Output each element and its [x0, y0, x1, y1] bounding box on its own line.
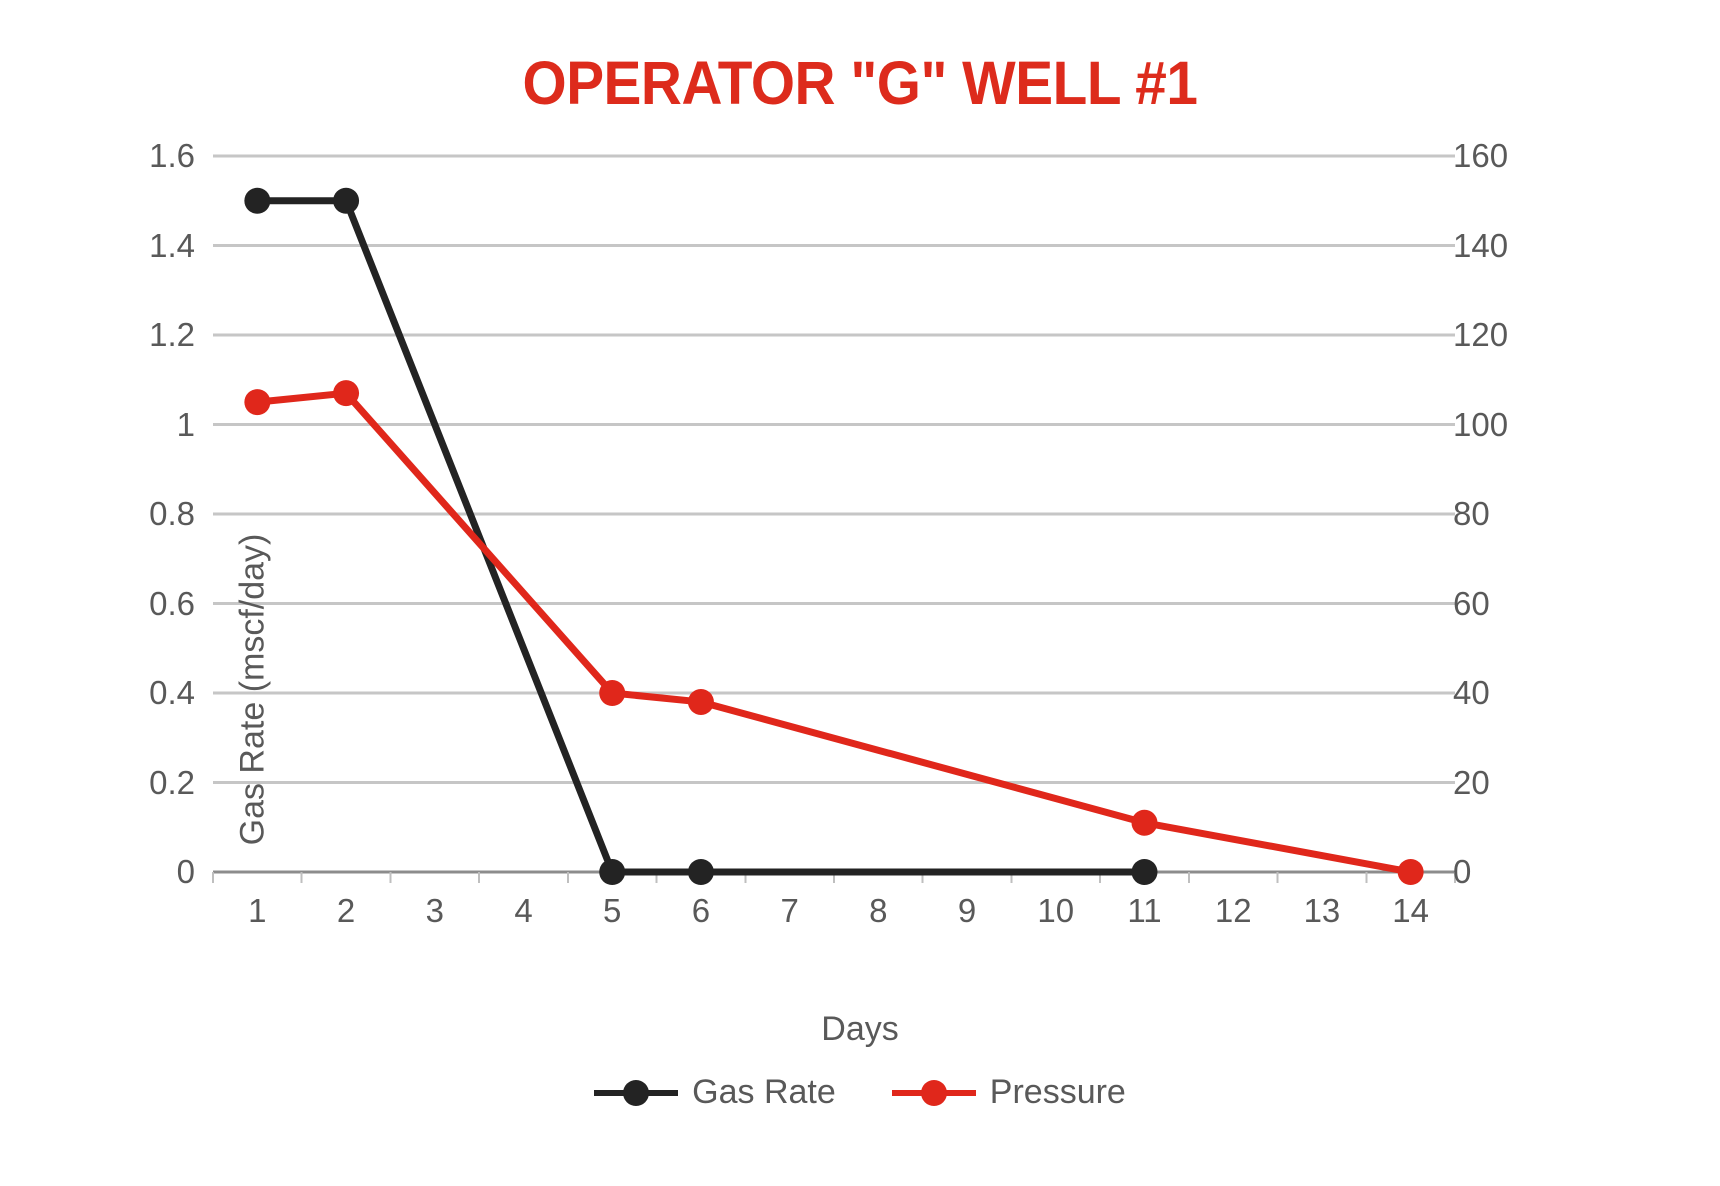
- x-axis-tick-label: 5: [603, 892, 621, 930]
- series-line-gas-rate: [257, 201, 1144, 872]
- y-axis-right-tick-label: 40: [1453, 674, 1573, 712]
- data-point-gas-rate: [333, 188, 359, 214]
- chart-legend: Gas RatePressure: [0, 1073, 1720, 1112]
- data-point-pressure: [1132, 810, 1158, 836]
- x-axis-tick-label: 4: [514, 892, 532, 930]
- y-axis-left-tick-label: 0.6: [95, 585, 195, 623]
- x-axis-tick-label: 14: [1392, 892, 1429, 930]
- y-axis-left-tick-label: 0.4: [95, 674, 195, 712]
- legend-item[interactable]: Pressure: [892, 1073, 1126, 1112]
- data-point-gas-rate: [688, 859, 714, 885]
- data-point-pressure: [333, 380, 359, 406]
- y-axis-left-tick-label: 0.8: [95, 495, 195, 533]
- data-point-pressure: [599, 680, 625, 706]
- x-axis-tick-label: 8: [869, 892, 887, 930]
- y-axis-right-tick-label: 120: [1453, 316, 1573, 354]
- data-point-gas-rate: [599, 859, 625, 885]
- x-axis-tick-label: 2: [337, 892, 355, 930]
- y-axis-left-tick-label: 1.6: [95, 137, 195, 175]
- y-axis-left-tick-label: 1.4: [95, 227, 195, 265]
- data-point-gas-rate: [244, 188, 270, 214]
- data-point-pressure: [688, 689, 714, 715]
- series-lines: [257, 201, 1410, 872]
- x-axis-tick-label: 13: [1304, 892, 1341, 930]
- y-axis-left-tick-label: 0.2: [95, 764, 195, 802]
- y-axis-right-tick-label: 140: [1453, 227, 1573, 265]
- y-axis-right-tick-label: 80: [1453, 495, 1573, 533]
- legend-marker-icon: [921, 1080, 947, 1106]
- y-axis-right-tick-label: 100: [1453, 406, 1573, 444]
- x-axis-title: Days: [0, 1010, 1720, 1049]
- x-axis-tick-label: 12: [1215, 892, 1252, 930]
- x-axis-tick-label: 6: [692, 892, 710, 930]
- legend-label: Pressure: [990, 1073, 1126, 1112]
- series-markers: [244, 188, 1423, 885]
- x-axis-tick-label: 10: [1037, 892, 1074, 930]
- plot-svg: [213, 156, 1455, 872]
- legend-swatch-icon: [892, 1080, 976, 1106]
- y-axis-right-tick-label: 0: [1453, 853, 1573, 891]
- x-axis-tick-label: 9: [958, 892, 976, 930]
- legend-item[interactable]: Gas Rate: [594, 1073, 836, 1112]
- x-axis-tick-label: 7: [780, 892, 798, 930]
- y-axis-right-tick-label: 20: [1453, 764, 1573, 802]
- legend-label: Gas Rate: [692, 1073, 836, 1112]
- chart-container: OPERATOR "G" WELL #1 00.20.40.60.811.21.…: [0, 0, 1720, 1186]
- data-point-pressure: [1398, 859, 1424, 885]
- y-axis-left-title: Gas Rate (mscf/day): [234, 410, 273, 970]
- y-axis-left-tick-label: 0: [95, 853, 195, 891]
- plot-area: 00.20.40.60.811.21.41.6 0204060801001201…: [213, 156, 1455, 872]
- gridlines: [213, 156, 1455, 872]
- x-axis-tick-label: 3: [426, 892, 444, 930]
- y-axis-right-tick-label: 160: [1453, 137, 1573, 175]
- y-axis-right-tick-label: 60: [1453, 585, 1573, 623]
- y-axis-left-tick-label: 1.2: [95, 316, 195, 354]
- y-axis-left-tick-label: 1: [95, 406, 195, 444]
- series-line-pressure: [257, 393, 1410, 872]
- legend-swatch-icon: [594, 1080, 678, 1106]
- x-axis-tick-label: 11: [1127, 892, 1161, 930]
- chart-title: OPERATOR "G" WELL #1: [60, 48, 1660, 118]
- data-point-gas-rate: [1132, 859, 1158, 885]
- legend-marker-icon: [623, 1080, 649, 1106]
